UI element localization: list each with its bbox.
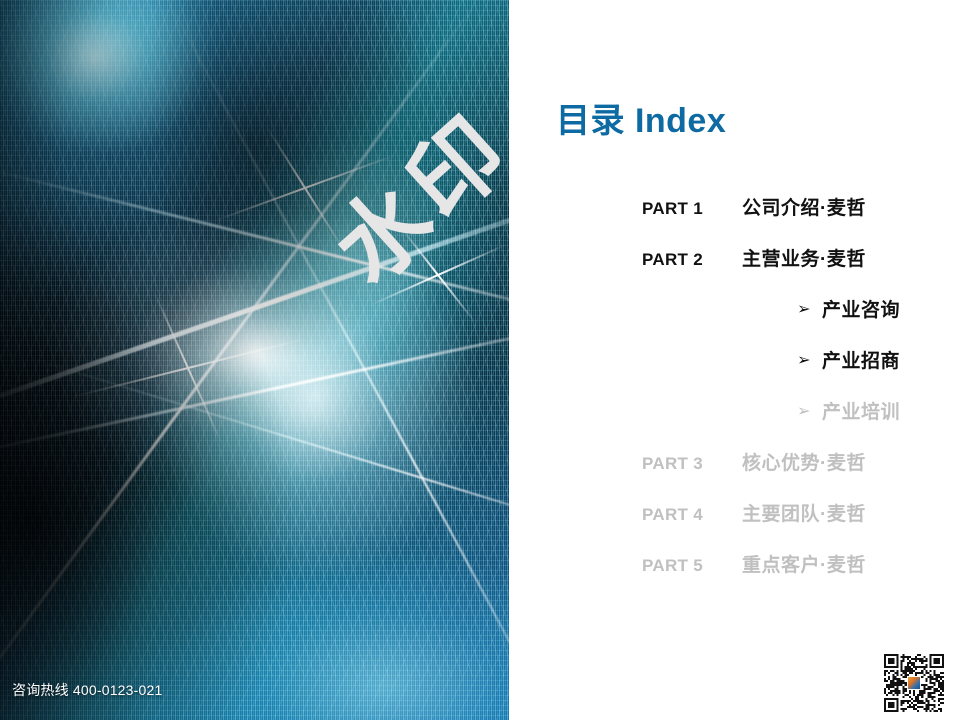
hero-vignette [0,0,509,720]
arrow-bullet-icon: ➢ [797,404,811,420]
qr-code[interactable] [884,654,944,712]
toc-part-label: PART 4 [642,505,742,525]
toc-part-label: PART 5 [642,556,742,576]
toc-row[interactable]: ➢产业培训 [509,397,900,448]
presentation-slide: 咨询热线 400-0123-021 目录 Index PART 1公司介绍·麦哲… [0,0,960,720]
toc-row[interactable]: PART 2主营业务·麦哲 [509,244,900,295]
toc-item-label: 核心优势·麦哲 [742,448,900,475]
toc-row[interactable]: ➢产业招商 [509,346,900,397]
toc-item-label: 主要团队·麦哲 [742,499,900,526]
table-of-contents: PART 1公司介绍·麦哲PART 2主营业务·麦哲➢产业咨询➢产业招商➢产业培… [509,193,900,601]
qr-center-logo-icon [907,676,921,690]
content-panel: 目录 Index PART 1公司介绍·麦哲PART 2主营业务·麦哲➢产业咨询… [509,0,960,720]
toc-row[interactable]: ➢产业咨询 [509,295,900,346]
toc-item-label-wrap: ➢产业招商 [742,346,900,373]
arrow-bullet-icon: ➢ [797,353,811,369]
arrow-bullet-icon: ➢ [797,302,811,318]
toc-part-label: PART 1 [642,199,742,219]
toc-item-label: 产业招商 [822,346,900,373]
toc-part-label: PART 3 [642,454,742,474]
toc-item-label-wrap: ➢产业咨询 [742,295,900,322]
toc-row[interactable]: PART 1公司介绍·麦哲 [509,193,900,244]
toc-item-label: 产业咨询 [822,295,900,322]
toc-item-label-wrap: ➢产业培训 [742,397,900,424]
hero-image-abstract-data-grid: 咨询热线 400-0123-021 [0,0,509,720]
toc-row[interactable]: PART 5重点客户·麦哲 [509,550,900,601]
toc-item-label: 主营业务·麦哲 [742,244,900,271]
toc-row[interactable]: PART 3核心优势·麦哲 [509,448,900,499]
page-title: 目录 Index [556,93,726,142]
toc-item-label: 重点客户·麦哲 [742,550,900,577]
hotline-text: 咨询热线 400-0123-021 [12,680,162,700]
toc-part-label: PART 2 [642,250,742,270]
toc-item-label: 公司介绍·麦哲 [742,193,900,220]
toc-item-label: 产业培训 [822,397,900,424]
toc-row[interactable]: PART 4主要团队·麦哲 [509,499,900,550]
